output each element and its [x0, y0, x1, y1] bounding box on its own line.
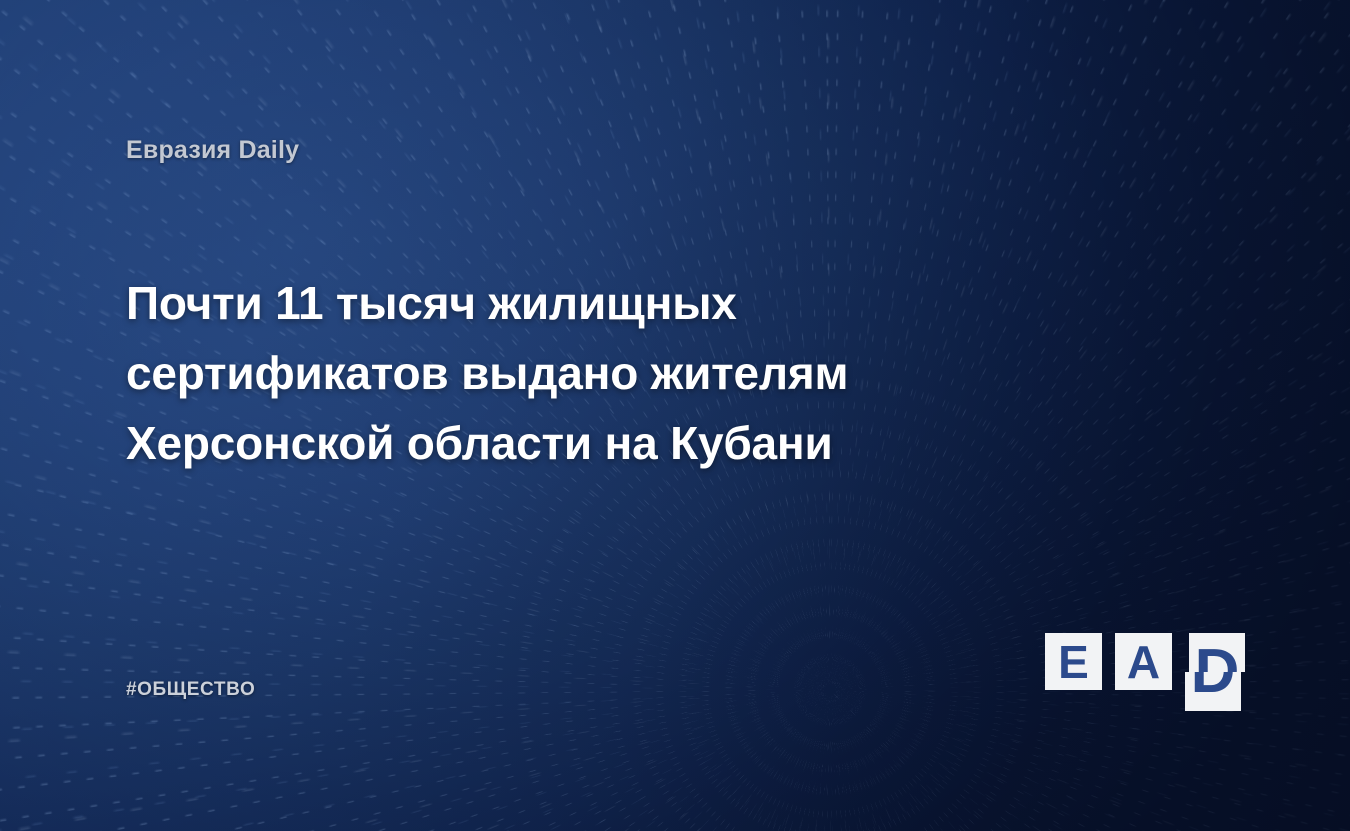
headline-line-1: Почти 11 тысяч жилищных: [126, 268, 1026, 338]
logo-letter-a: A: [1115, 633, 1172, 690]
headline-line-2: сертификатов выдано жителям: [126, 338, 1026, 408]
card-content: Евразия Daily Почти 11 тысяч жилищных се…: [0, 0, 1350, 831]
logo-tile-e: E: [1045, 633, 1102, 690]
logo-letter-d-glyph-top: D: [1189, 633, 1245, 672]
logo-tile-d: D D: [1185, 633, 1241, 711]
ead-logo: E A D D: [1045, 633, 1241, 711]
logo-letter-d-glyph-bottom: D: [1185, 672, 1241, 711]
category-hashtag[interactable]: #ОБЩЕСТВО: [126, 679, 255, 701]
logo-letter-d-top-half: D: [1189, 633, 1245, 672]
page-title: Почти 11 тысяч жилищных сертификатов выд…: [126, 268, 1026, 478]
news-share-card: Евразия Daily Почти 11 тысяч жилищных се…: [0, 0, 1350, 831]
site-name: Евразия Daily: [126, 136, 299, 165]
logo-letter-e: E: [1045, 633, 1102, 690]
logo-letter-d-bottom-half: D: [1185, 672, 1241, 711]
headline-line-3: Херсонской области на Кубани: [126, 408, 1026, 478]
logo-tile-a: A: [1115, 633, 1172, 690]
